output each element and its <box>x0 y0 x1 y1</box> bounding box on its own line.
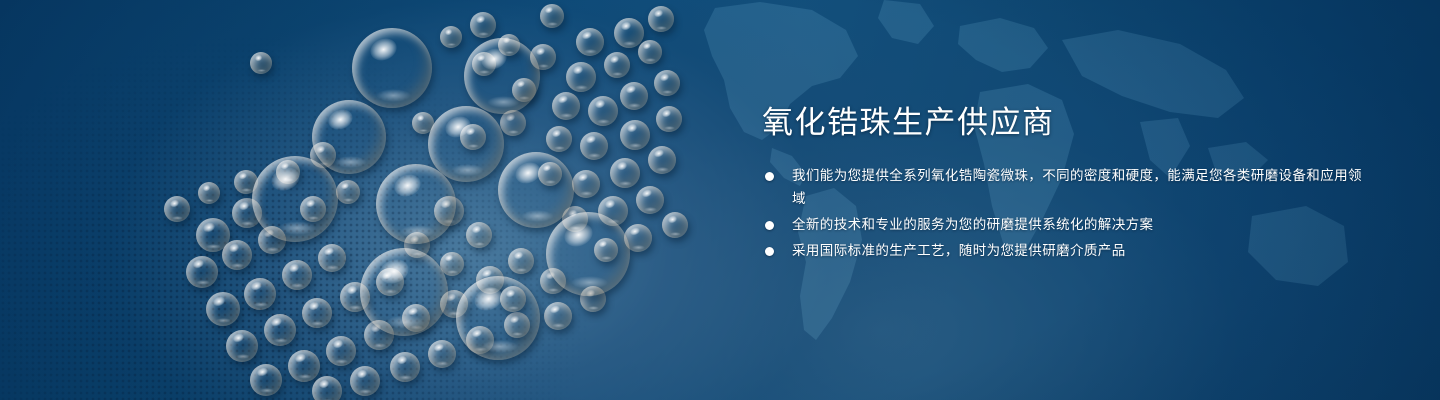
page-title: 氧化锆珠生产供应商 <box>762 104 1362 143</box>
bullet-circle-icon <box>765 247 774 256</box>
banner-text-block: 氧化锆珠生产供应商 我们能为您提供全系列氧化锆陶瓷微珠，不同的密度和硬度，能满足… <box>762 104 1362 266</box>
list-item-label: 采用国际标准的生产工艺，随时为您提供研磨介质产品 <box>792 243 1126 259</box>
list-item-label: 全新的技术和专业的服务为您的研磨提供系统化的解决方案 <box>792 217 1153 233</box>
list-item: 我们能为您提供全系列氧化锆陶瓷微珠，不同的密度和硬度，能满足您各类研磨设备和应用… <box>762 165 1362 211</box>
bullet-circle-icon <box>765 221 774 230</box>
feature-list: 我们能为您提供全系列氧化锆陶瓷微珠，不同的密度和硬度，能满足您各类研磨设备和应用… <box>762 165 1362 263</box>
list-item: 采用国际标准的生产工艺，随时为您提供研磨介质产品 <box>762 240 1362 263</box>
list-item: 全新的技术和专业的服务为您的研磨提供系统化的解决方案 <box>762 214 1362 237</box>
list-item-label: 我们能为您提供全系列氧化锆陶瓷微珠，不同的密度和硬度，能满足您各类研磨设备和应用… <box>792 168 1362 207</box>
bullet-circle-icon <box>765 172 774 181</box>
hero-banner: 氧化锆珠生产供应商 我们能为您提供全系列氧化锆陶瓷微珠，不同的密度和硬度，能满足… <box>0 0 1440 400</box>
